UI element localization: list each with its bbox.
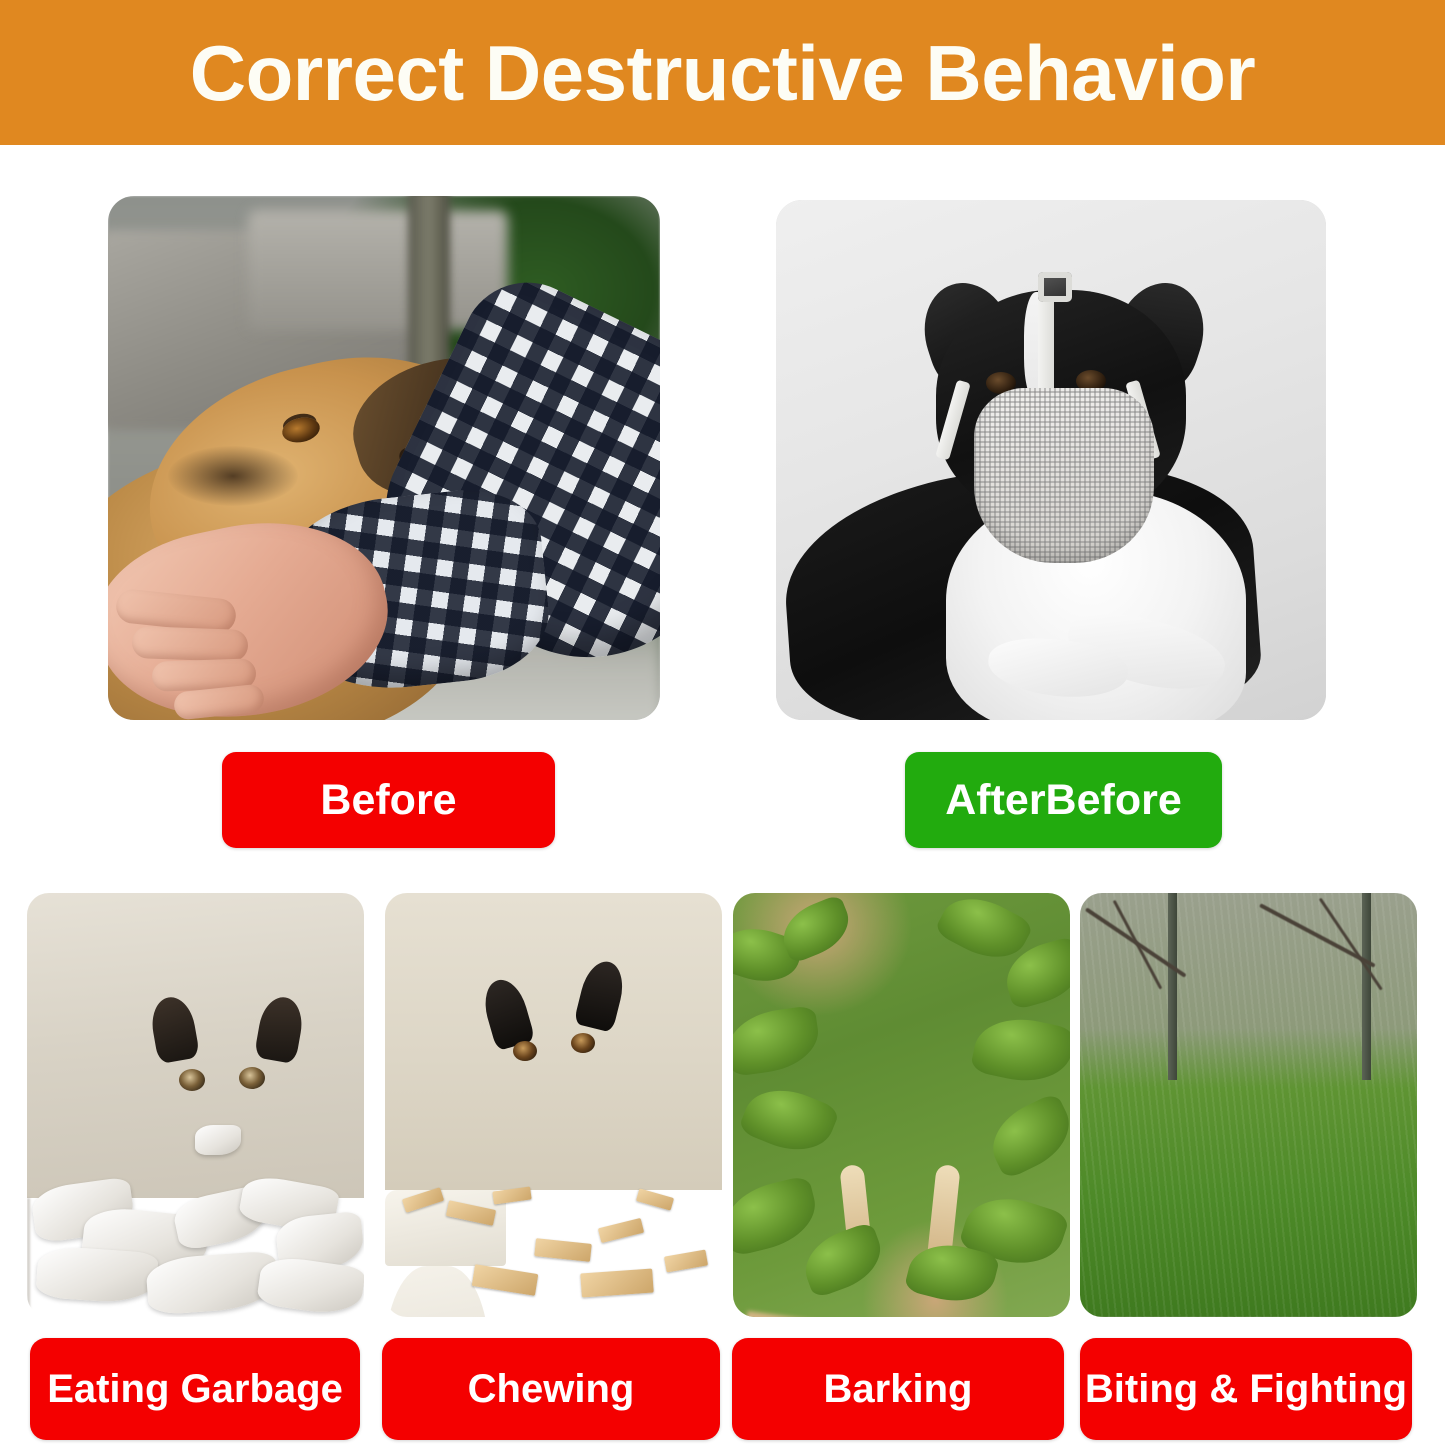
wood-splinter	[664, 1249, 708, 1272]
behavior-photo-eating-garbage	[27, 893, 364, 1317]
behavior-photo-biting-fighting	[1080, 893, 1417, 1317]
behavior-label-biting-fighting[interactable]: Biting & Fighting	[1080, 1338, 1412, 1440]
terrier-eye-left	[513, 1041, 537, 1061]
behavior-label-chewing[interactable]: Chewing	[382, 1338, 720, 1440]
finger	[131, 626, 248, 662]
stone-block-blur	[248, 210, 508, 330]
behavior-label-eating-garbage[interactable]: Eating Garbage	[30, 1338, 360, 1440]
mesh-muzzle	[974, 388, 1154, 563]
torn-paper	[195, 1125, 241, 1155]
muzzle-buckle	[1038, 272, 1072, 302]
wood-splinter	[636, 1188, 674, 1210]
wood-splinter	[598, 1218, 644, 1243]
after-badge[interactable]: AfterBefore	[905, 752, 1222, 848]
torn-paper	[35, 1245, 158, 1305]
before-badge[interactable]: Before	[222, 752, 555, 848]
before-photo	[108, 196, 660, 720]
dog-brow-shading	[168, 446, 298, 506]
fence-post	[1362, 893, 1371, 1080]
wood-splinter	[580, 1269, 653, 1298]
behavior-label-barking[interactable]: Barking	[732, 1338, 1064, 1440]
wall-corner	[27, 1198, 30, 1317]
bathroom-wall	[385, 893, 722, 1190]
bulldog-eye-right	[239, 1067, 265, 1089]
behavior-photo-chewing	[385, 893, 722, 1317]
wood-splinter	[472, 1264, 539, 1296]
header-banner: Correct Destructive Behavior	[0, 0, 1445, 145]
fence-post	[1168, 893, 1177, 1080]
terrier-eye-right	[571, 1033, 595, 1053]
page-title: Correct Destructive Behavior	[190, 34, 1255, 112]
behavior-photo-barking	[733, 893, 1070, 1317]
wood-splinter	[534, 1238, 592, 1262]
torn-paper	[256, 1254, 364, 1317]
bulldog-eye-left	[179, 1069, 205, 1091]
after-photo	[776, 200, 1326, 720]
